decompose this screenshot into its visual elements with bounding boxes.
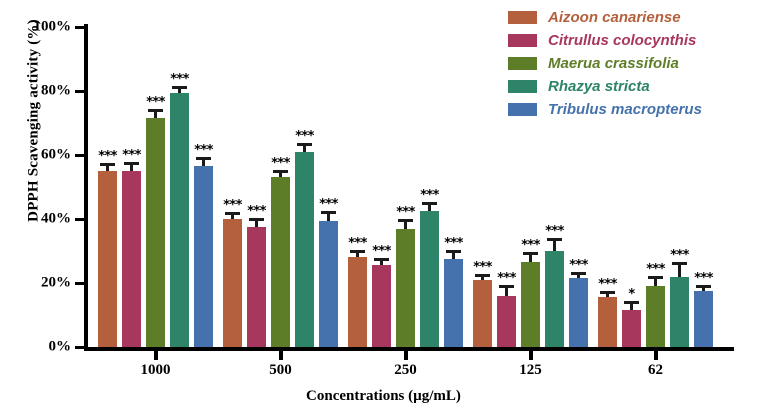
significance-marker: *** — [473, 263, 492, 272]
significance-marker: *** — [146, 98, 165, 107]
legend-item: Aizoon canariense — [508, 6, 764, 29]
y-tick-label: 80% — [41, 83, 71, 100]
error-bar — [553, 241, 556, 251]
error-bar — [428, 205, 431, 211]
significance-marker: *** — [271, 159, 290, 168]
bar: *** — [271, 177, 290, 347]
error-bar — [231, 215, 234, 219]
error-bar — [654, 279, 657, 286]
x-axis-line — [84, 347, 734, 351]
significance-marker: *** — [444, 239, 463, 248]
error-bar — [106, 166, 109, 171]
error-bar — [481, 277, 484, 280]
bar: *** — [444, 259, 463, 347]
significance-marker: *** — [247, 207, 266, 216]
bar: *** — [223, 219, 242, 347]
legend-color-swatch — [508, 34, 537, 47]
x-tick-mark — [529, 351, 533, 360]
bar: *** — [694, 291, 713, 347]
bar: *** — [319, 221, 338, 347]
x-tick-label: 125 — [519, 362, 542, 379]
chart-legend: Aizoon canarienseCitrullus colocynthisMa… — [508, 6, 764, 121]
y-tick-label: 40% — [41, 211, 71, 228]
error-bar — [505, 288, 508, 296]
legend-label: Rhazya stricta — [548, 78, 650, 95]
significance-marker: *** — [223, 201, 242, 210]
significance-marker: *** — [497, 274, 516, 283]
bar: *** — [646, 286, 665, 347]
error-bar — [678, 265, 681, 276]
bar: *** — [247, 227, 266, 347]
legend-label: Maerua crassifolia — [548, 55, 679, 72]
bar: *** — [473, 280, 492, 347]
bar: *** — [170, 93, 189, 347]
error-bar — [452, 253, 455, 259]
legend-label: Aizoon canariense — [548, 9, 681, 26]
error-bar — [577, 275, 580, 278]
y-tick-label: 60% — [41, 147, 71, 164]
y-tick-mark — [75, 90, 84, 93]
legend-label: Citrullus colocynthis — [548, 32, 696, 49]
significance-marker: *** — [569, 261, 588, 270]
bar: *** — [420, 211, 439, 347]
legend-color-swatch — [508, 80, 537, 93]
error-bar — [255, 221, 258, 227]
significance-marker: *** — [122, 151, 141, 160]
x-tick-mark — [279, 351, 283, 360]
y-axis-title: DPPH Scavenging activity (%) — [26, 0, 43, 251]
bar: *** — [396, 229, 415, 347]
bar: *** — [545, 251, 564, 347]
x-tick-label: 250 — [394, 362, 417, 379]
x-tick-label: 62 — [648, 362, 663, 379]
y-tick-mark — [75, 26, 84, 29]
error-bar — [279, 173, 282, 178]
bar: *** — [295, 152, 314, 347]
legend-color-swatch — [508, 103, 537, 116]
legend-item: Rhazya stricta — [508, 75, 764, 98]
significance-marker: *** — [295, 132, 314, 141]
x-axis-title: Concentrations (µg/mL) — [0, 388, 767, 405]
legend-item: Tribulus macropterus — [508, 98, 764, 121]
significance-marker: *** — [170, 75, 189, 84]
dpph-scavenging-bar-chart: DPPH Scavenging activity (%) Concentrati… — [0, 0, 767, 419]
y-tick-mark — [75, 346, 84, 349]
error-bar — [606, 294, 609, 298]
bar: *** — [98, 171, 117, 347]
y-tick-mark — [75, 282, 84, 285]
significance-marker: * — [628, 290, 634, 299]
y-tick-label: 0% — [49, 339, 72, 356]
x-tick-mark — [654, 351, 658, 360]
bar: *** — [372, 265, 391, 347]
significance-marker: *** — [319, 200, 338, 209]
legend-color-swatch — [508, 57, 537, 70]
significance-marker: *** — [694, 274, 713, 283]
x-tick-mark — [154, 351, 158, 360]
significance-marker: *** — [598, 280, 617, 289]
x-tick-label: 500 — [269, 362, 292, 379]
x-tick-label: 1000 — [141, 362, 171, 379]
bar: *** — [497, 296, 516, 347]
significance-marker: *** — [545, 227, 564, 236]
y-tick-mark — [75, 218, 84, 221]
error-bar — [327, 214, 330, 220]
error-bar — [130, 165, 133, 171]
error-bar — [202, 160, 205, 166]
legend-label: Tribulus macropterus — [548, 101, 702, 118]
error-bar — [380, 261, 383, 266]
significance-marker: *** — [670, 251, 689, 260]
error-bar — [630, 304, 633, 310]
legend-item: Maerua crassifolia — [508, 52, 764, 75]
significance-marker: *** — [348, 239, 367, 248]
bar: *** — [670, 277, 689, 347]
error-bar — [356, 253, 359, 258]
x-tick-mark — [404, 351, 408, 360]
significance-marker: *** — [396, 208, 415, 217]
significance-marker: *** — [194, 146, 213, 155]
bar: *** — [146, 118, 165, 347]
y-tick-label: 100% — [34, 19, 72, 36]
error-bar — [404, 222, 407, 228]
error-bar — [154, 112, 157, 118]
significance-marker: *** — [98, 152, 117, 161]
significance-marker: *** — [521, 241, 540, 250]
error-bar — [178, 89, 181, 93]
significance-marker: *** — [420, 191, 439, 200]
legend-color-swatch — [508, 11, 537, 24]
bar: *** — [194, 166, 213, 347]
bar: *** — [598, 297, 617, 347]
error-bar — [303, 146, 306, 152]
bar: *** — [521, 262, 540, 347]
y-tick-label: 20% — [41, 275, 71, 292]
error-bar — [529, 255, 532, 262]
bar: *** — [348, 257, 367, 347]
significance-marker: *** — [646, 265, 665, 274]
bar: *** — [122, 171, 141, 347]
significance-marker: *** — [372, 247, 391, 256]
legend-item: Citrullus colocynthis — [508, 29, 764, 52]
error-bar — [702, 288, 705, 291]
bar: * — [622, 310, 641, 347]
y-tick-mark — [75, 154, 84, 157]
bar: *** — [569, 278, 588, 347]
